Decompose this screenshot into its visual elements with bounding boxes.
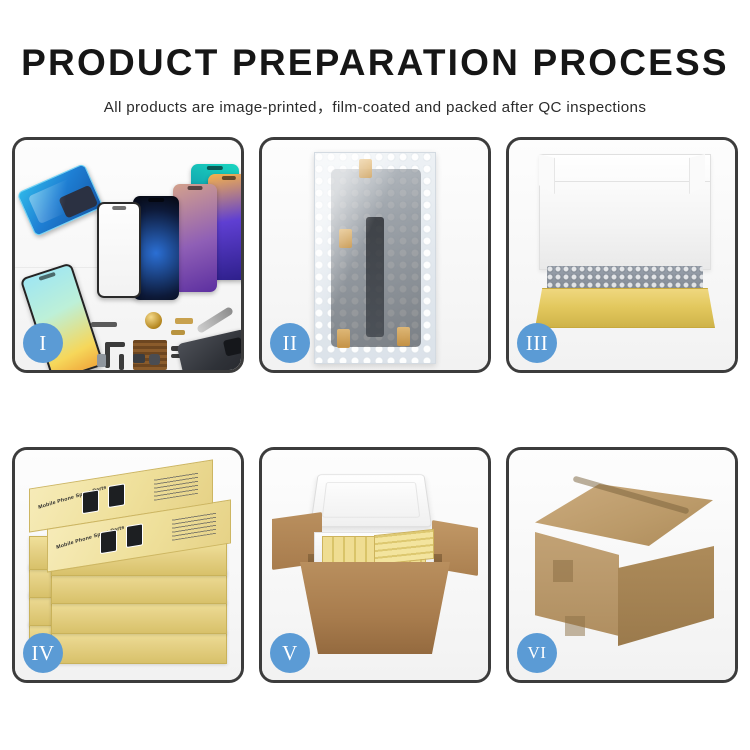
repair-tool-icon (196, 306, 234, 334)
small-part-icon (149, 354, 160, 365)
small-part-icon (91, 322, 117, 327)
box-window-icon (108, 483, 125, 508)
step-badge-3: III (517, 323, 557, 363)
phone-notch-icon (222, 176, 236, 180)
box-spec-lines (172, 512, 216, 541)
carton-tape-patch (565, 616, 585, 636)
tape-tab-icon (397, 327, 410, 346)
page-subtitle: All products are image-printed，film-coat… (0, 95, 750, 117)
phone-white-glass-icon (97, 202, 141, 298)
box-spec-lines (154, 472, 198, 501)
process-step-panel-1: I (12, 137, 244, 373)
carton-front-right-face (618, 546, 714, 646)
process-step-panel-3: III (506, 137, 738, 373)
box-lid-icon (539, 154, 711, 270)
phone-notch-icon (38, 272, 55, 281)
process-step-panel-2: II (259, 137, 491, 373)
foam-lid-icon (310, 474, 432, 527)
packed-inner-boxes-row (374, 529, 434, 565)
step-badge-6: VI (517, 633, 557, 673)
box-window-icon (126, 523, 143, 548)
step-badge-4: IV (23, 633, 63, 673)
step-badge-2: II (270, 323, 310, 363)
phone-notch-icon (188, 186, 203, 190)
gold-component-icon (145, 312, 162, 329)
camera-module-icon (223, 337, 244, 357)
phone-notch-icon (207, 166, 223, 170)
inner-box-icon (51, 600, 227, 634)
step-badge-5: V (270, 633, 310, 673)
tape-tab-icon (337, 329, 350, 348)
box-window-icon (82, 489, 99, 514)
phone-purple-icon (173, 184, 217, 292)
carton-tape-patch (553, 560, 573, 582)
small-part-icon (171, 330, 185, 335)
small-part-icon (97, 354, 106, 367)
bubble-wrap-pouch-icon (314, 152, 436, 364)
process-step-grid: I II (12, 137, 738, 683)
page-title: PRODUCT PREPARATION PROCESS (0, 44, 750, 81)
product-preparation-process-page: PRODUCT PREPARATION PROCESS All products… (0, 0, 750, 750)
flex-cable-icon (119, 354, 124, 370)
flex-cable-icon (105, 342, 125, 347)
process-step-panel-5: V (259, 447, 491, 683)
small-part-icon (133, 354, 145, 363)
box-window-icon (100, 529, 117, 554)
screen-protector-film-icon (16, 163, 103, 237)
carton-body-icon (300, 562, 450, 654)
phone-notch-icon (148, 198, 164, 202)
process-step-panel-4: Mobile Phone Spare Parts Mobile Phone Sp… (12, 447, 244, 683)
page-header: PRODUCT PREPARATION PROCESS All products… (0, 0, 750, 117)
tape-tab-icon (339, 229, 352, 248)
phone-back-housing-icon (176, 329, 244, 373)
tape-tab-icon (359, 159, 372, 178)
yellow-box-tray-icon (535, 288, 715, 328)
process-step-panel-6: VI (506, 447, 738, 683)
film-dark-area (58, 185, 98, 219)
phone-notch-icon (112, 206, 126, 210)
inner-box-icon (51, 630, 227, 664)
step-badge-1: I (23, 323, 63, 363)
small-part-icon (175, 318, 193, 324)
inner-box-stack-icon: Mobile Phone Spare Parts Mobile Phone Sp… (29, 472, 231, 664)
wrapped-part-strip (366, 217, 384, 337)
